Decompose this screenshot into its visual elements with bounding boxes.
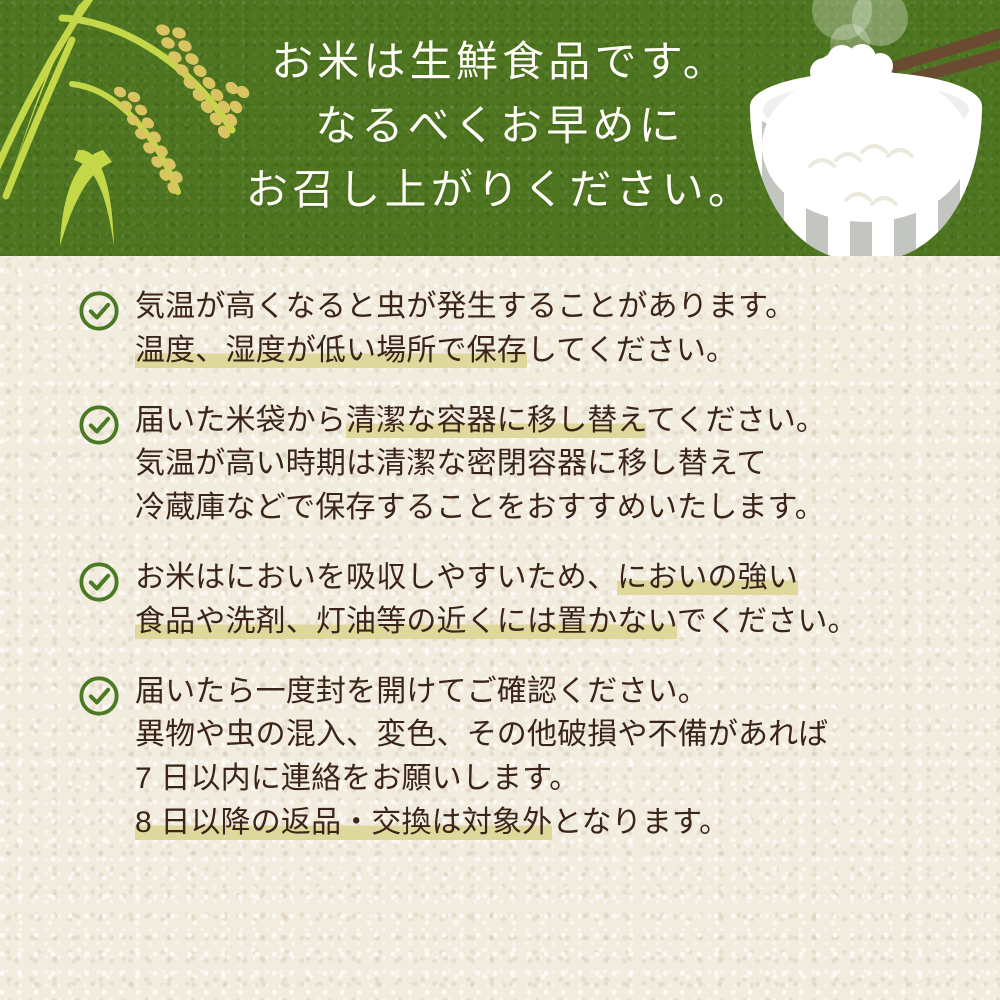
storage-notes-list: 気温が高くなると虫が発生することがあります。 温度、湿度が低い場所で保存してくだ… (0, 285, 1000, 871)
note-text: お米はにおいを吸収しやすいため、においの強い 食品や洗剤、灯油等の近くには置かな… (135, 556, 1000, 644)
header-banner: お米は生鮮食品です。 なるべくお早めに お召し上がりください。 (0, 0, 1000, 256)
note-plain: 冷蔵庫などで保存することをおすすめいたします。 (135, 491, 825, 524)
check-circle-icon (78, 561, 120, 603)
list-item: 届いたら一度封を開けてご確認ください。 異物や虫の混入、変色、その他破損や不備が… (0, 670, 1000, 845)
header-title-line-3: お召し上がりください。 (0, 160, 1000, 224)
note-line: 気温が高くなると虫が発生することがあります。 (135, 285, 1000, 329)
note-line: 温度、湿度が低い場所で保存してください。 (135, 329, 1000, 373)
note-plain: お米はにおいを吸収しやすいため、 (135, 561, 617, 594)
note-line: 異物や虫の混入、変色、その他破損や不備があれば (135, 713, 1000, 757)
note-line: 気温が高い時期は清潔な密閉容器に移し替えて (135, 442, 1000, 486)
note-text: 気温が高くなると虫が発生することがあります。 温度、湿度が低い場所で保存してくだ… (135, 285, 1000, 373)
note-line: お米はにおいを吸収しやすいため、においの強い (135, 556, 1000, 600)
header-title-line-2: なるべくお早めに (0, 96, 1000, 160)
note-highlight: 清潔な容器に移し替え (346, 404, 646, 438)
note-plain: 気温が高い時期は清潔な密閉容器に移し替えて (135, 447, 767, 480)
note-highlight: 8 日以降の返品・交換は対象外 (135, 806, 552, 840)
note-line: 8 日以降の返品・交換は対象外となります。 (135, 801, 1000, 845)
note-line: 届いた米袋から清潔な容器に移し替えてください。 (135, 399, 1000, 443)
note-highlight: においの強い (617, 561, 798, 595)
header-title: お米は生鮮食品です。 なるべくお早めに お召し上がりください。 (0, 32, 1000, 223)
note-line: 7 日以内に連絡をお願いします。 (135, 757, 1000, 801)
list-item: 届いた米袋から清潔な容器に移し替えてください。 気温が高い時期は清潔な密閉容器に… (0, 399, 1000, 530)
list-item: 気温が高くなると虫が発生することがあります。 温度、湿度が低い場所で保存してくだ… (0, 285, 1000, 373)
check-circle-icon (78, 404, 120, 446)
note-plain: 気温が高くなると虫が発生することがあります。 (135, 290, 795, 323)
note-plain: 届いたら一度封を開けてご確認ください。 (135, 675, 708, 708)
list-item: お米はにおいを吸収しやすいため、においの強い 食品や洗剤、灯油等の近くには置かな… (0, 556, 1000, 644)
note-text: 届いた米袋から清潔な容器に移し替えてください。 気温が高い時期は清潔な密閉容器に… (135, 399, 1000, 530)
note-tail: でください。 (677, 605, 858, 638)
note-highlight: 温度、湿度が低い場所で保存 (135, 334, 527, 368)
note-line: 届いたら一度封を開けてご確認ください。 (135, 670, 1000, 714)
header-title-line-1: お米は生鮮食品です。 (0, 32, 1000, 96)
note-plain: 届いた米袋から (135, 404, 346, 437)
rice-storage-notice-page: お米は生鮮食品です。 なるべくお早めに お召し上がりください。 気温が高くなると… (0, 0, 1000, 1000)
check-circle-icon (78, 675, 120, 717)
note-plain: 7 日以内に連絡をお願いします。 (135, 762, 579, 795)
check-circle-icon (78, 290, 120, 332)
note-plain: 異物や虫の混入、変色、その他破損や不備があれば (135, 718, 828, 751)
note-text: 届いたら一度封を開けてご確認ください。 異物や虫の混入、変色、その他破損や不備が… (135, 670, 1000, 845)
note-tail: てください。 (646, 404, 826, 437)
note-tail: してください。 (527, 334, 736, 367)
note-tail: となります。 (552, 806, 729, 839)
note-line: 食品や洗剤、灯油等の近くには置かないでください。 (135, 600, 1000, 644)
note-line: 冷蔵庫などで保存することをおすすめいたします。 (135, 486, 1000, 530)
note-highlight: 食品や洗剤、灯油等の近くには置かない (135, 605, 677, 639)
